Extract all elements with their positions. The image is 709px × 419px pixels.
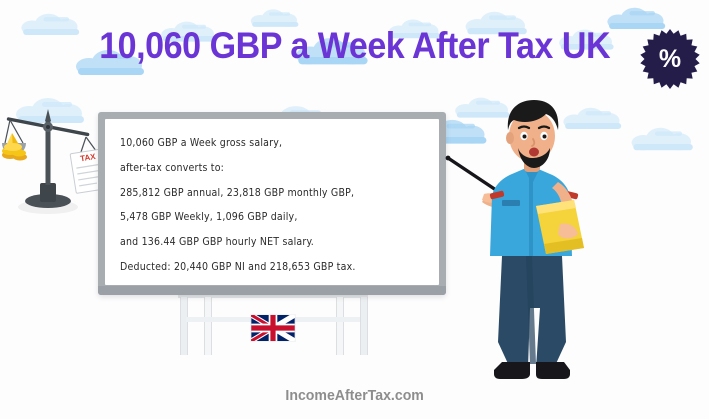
right-shoe xyxy=(536,362,570,379)
scales-base-block xyxy=(40,183,56,202)
percent-symbol: % xyxy=(659,45,681,73)
whiteboard: 10,060 GBP a Week gross salary, after-ta… xyxy=(98,112,446,295)
whiteboard-tray xyxy=(98,286,446,295)
percent-badge-icon: % xyxy=(639,28,701,90)
teacher-character xyxy=(440,96,615,382)
title-container: 10,060 GBP a Week After Tax UK xyxy=(0,24,709,68)
board-line: 10,060 GBP a Week gross salary, xyxy=(120,131,429,156)
infographic-canvas: 10,060 GBP a Week After Tax UK % xyxy=(0,0,709,419)
left-shoe xyxy=(494,362,530,379)
teacher-illustration xyxy=(440,96,615,382)
shirt-pocket xyxy=(502,200,520,206)
stand-leg-outer-left xyxy=(180,297,188,355)
balance-scales-icon: TAX xyxy=(2,103,110,218)
whiteboard-surface: 10,060 GBP a Week gross salary, after-ta… xyxy=(105,119,439,285)
board-line: and 136.44 GBP GBP hourly NET salary. xyxy=(120,230,429,255)
board-line: Deducted: 20,440 GBP NI and 218,653 GBP … xyxy=(120,255,429,280)
footer-brand: IncomeAfterTax.com xyxy=(285,387,423,404)
percent-badge: % xyxy=(639,28,701,90)
uk-flag-icon xyxy=(251,315,295,341)
stand-leg-outer-right xyxy=(360,297,368,355)
stand-leg-inner-right xyxy=(336,297,344,355)
stand-leg-inner-left xyxy=(204,297,212,355)
board-line: 285,812 GBP annual, 23,818 GBP monthly G… xyxy=(120,181,429,206)
uk-flag xyxy=(251,315,295,341)
left-pupil xyxy=(523,135,527,139)
balance-scales-illustration: TAX xyxy=(2,103,110,218)
page-title: 10,060 GBP a Week After Tax UK xyxy=(99,24,610,68)
cloud xyxy=(628,126,705,153)
footer: IncomeAfterTax.com xyxy=(0,387,709,405)
board-line: after-tax converts to: xyxy=(120,156,429,181)
scales-pivot-center xyxy=(46,125,50,129)
ear xyxy=(506,132,514,144)
whiteboard-text-block: 10,060 GBP a Week gross salary, after-ta… xyxy=(120,131,429,280)
pointer-stick xyxy=(446,156,502,194)
mouth xyxy=(529,148,539,157)
board-line: 5,478 GBP Weekly, 1,096 GBP daily, xyxy=(120,205,429,230)
shirt-placket xyxy=(529,176,533,256)
scales-finial xyxy=(45,109,51,121)
right-pupil xyxy=(543,135,547,139)
